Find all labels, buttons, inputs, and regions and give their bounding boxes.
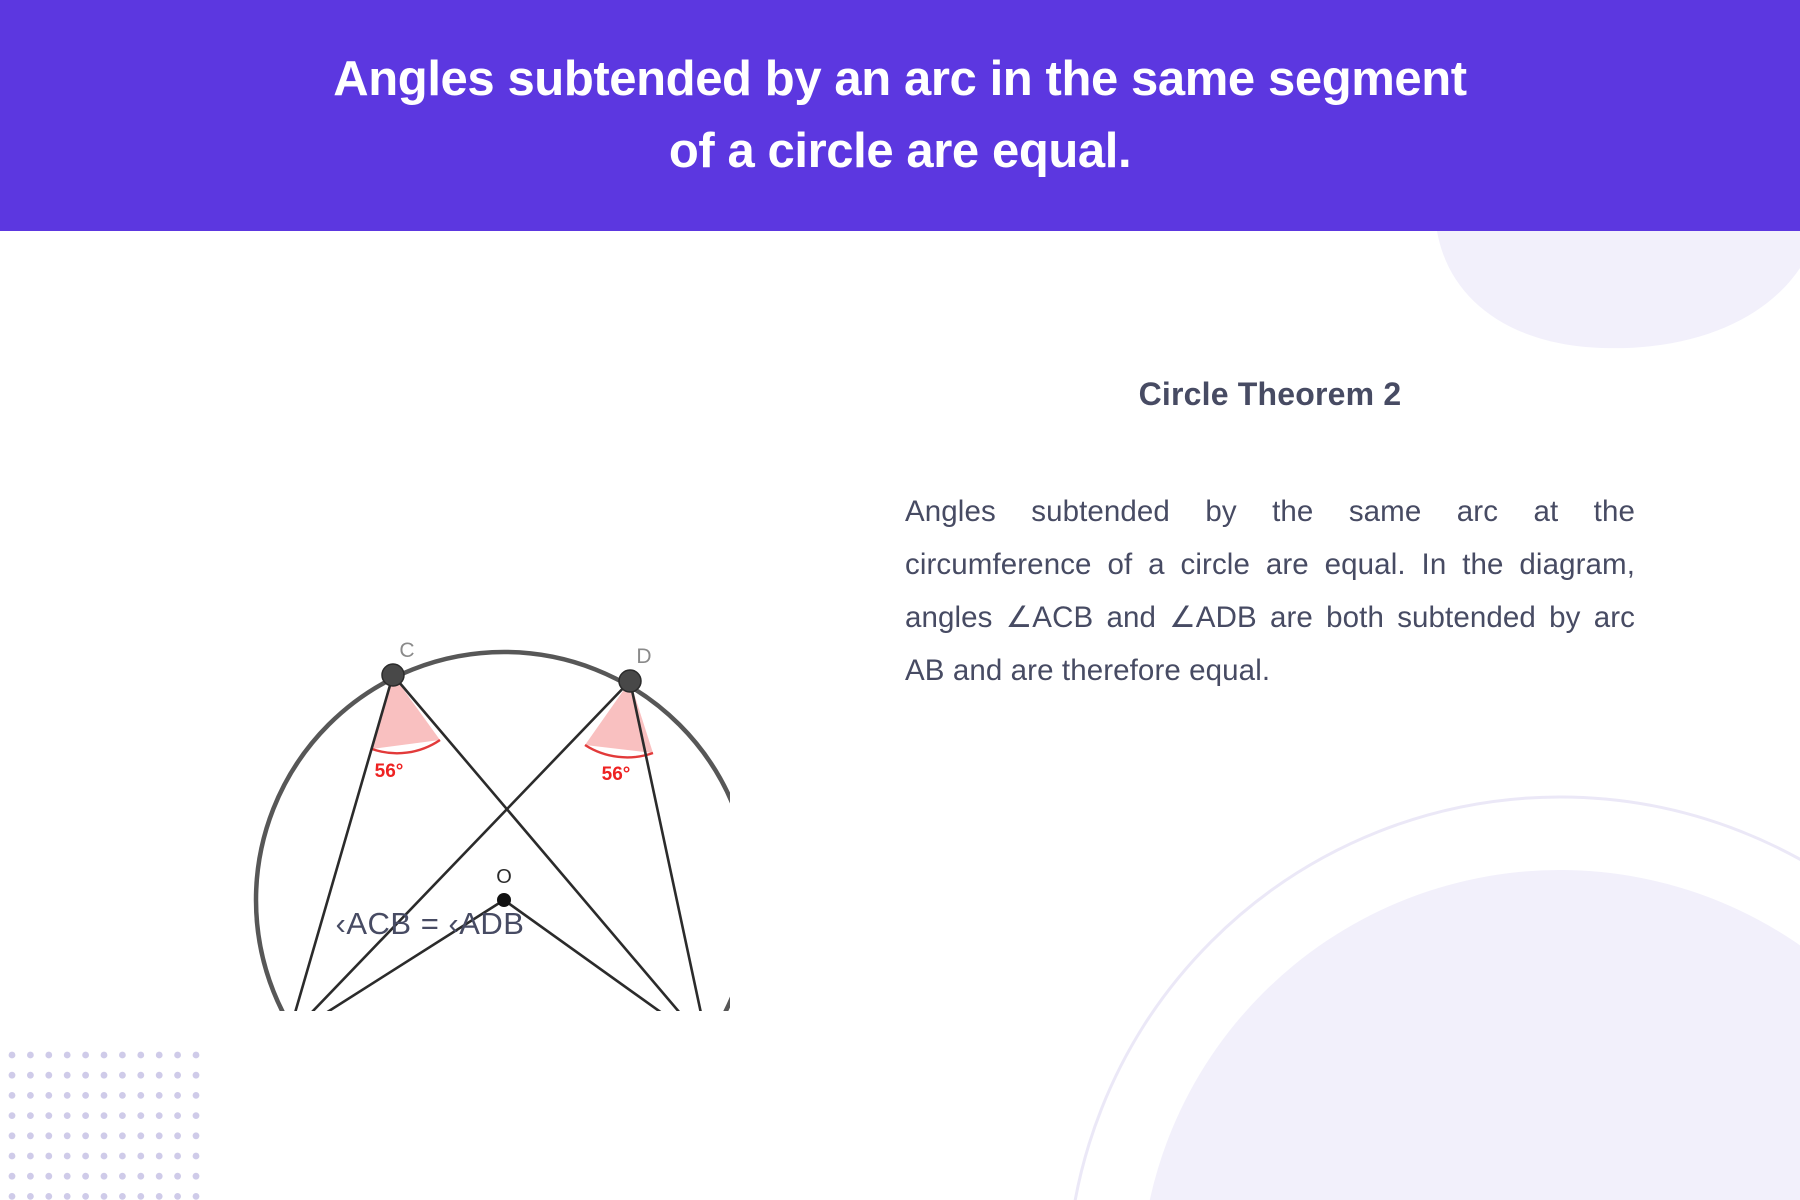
header-banner: Angles subtended by an arc in the same s… xyxy=(0,0,1800,231)
label-o: O xyxy=(496,866,512,888)
theorem-heading: Circle Theorem 2 xyxy=(905,376,1635,413)
chord-c-a xyxy=(288,675,393,1011)
chord-d-a xyxy=(288,681,630,1011)
center-o-dot xyxy=(497,893,511,907)
angle-label-c: 56° xyxy=(375,761,404,782)
diagram-caption: ‹ACB = ‹ADB xyxy=(130,906,730,942)
angle-label-d: 56° xyxy=(602,764,631,785)
main-circle xyxy=(256,652,730,1011)
label-d: D xyxy=(636,645,651,668)
vertex-d-dot xyxy=(619,670,641,692)
circle-diagram-panel: A B C D O 56° 56° ‹ACB = ‹ADB xyxy=(130,311,730,1011)
vertex-c-dot xyxy=(382,664,404,686)
header-title-line-1: Angles subtended by an arc in the same s… xyxy=(333,44,1466,115)
content-area: A B C D O 56° 56° ‹ACB = ‹ADB Circle The… xyxy=(0,231,1800,1200)
theorem-body-text: Angles subtended by the same arc at the … xyxy=(905,485,1635,697)
label-c: C xyxy=(399,639,414,662)
chord-c-b xyxy=(393,675,708,1011)
chord-d-b xyxy=(630,681,708,1011)
theorem-text-panel: Circle Theorem 2 Angles subtended by the… xyxy=(905,376,1635,697)
header-title-line-2: of a circle are equal. xyxy=(669,116,1131,187)
